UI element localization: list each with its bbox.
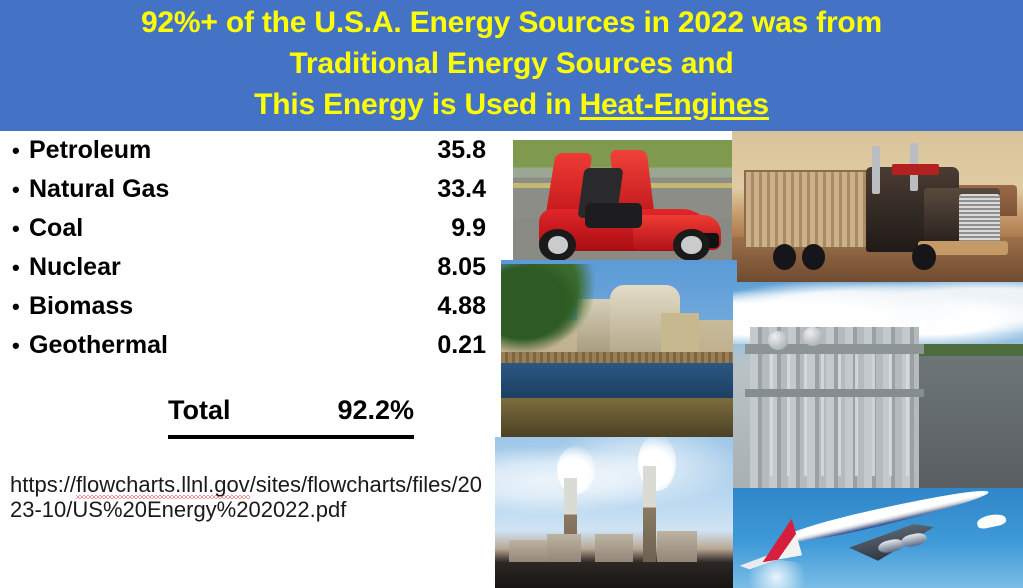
auxiliary-building bbox=[661, 313, 699, 352]
foreground-tree bbox=[501, 264, 595, 363]
source-value: 4.88 bbox=[437, 291, 486, 320]
truck-tire bbox=[912, 244, 935, 270]
source-value: 8.05 bbox=[437, 252, 486, 281]
title-line-3: This Energy is Used in Heat-Engines bbox=[254, 84, 769, 125]
source-value: 0.21 bbox=[437, 330, 486, 359]
car-wheel bbox=[539, 229, 576, 262]
left-content-column: • Petroleum 35.8 • Natural Gas 33.4 • Co… bbox=[0, 131, 500, 588]
list-item: • Natural Gas 33.4 bbox=[0, 170, 495, 209]
url-scheme: https:// bbox=[10, 472, 76, 497]
livestock-trailer bbox=[744, 170, 872, 249]
foreground-reeds bbox=[501, 398, 737, 437]
truck-tire bbox=[773, 244, 796, 270]
red-sports-car-photo bbox=[513, 140, 732, 265]
car-cabin bbox=[585, 203, 642, 228]
sky-haze bbox=[495, 437, 733, 531]
title-line-3-prefix: This Energy is Used in bbox=[254, 88, 580, 121]
title-heat-engines-underlined: Heat-Engines bbox=[580, 88, 769, 121]
oil-refinery-photo bbox=[733, 282, 1023, 488]
truck-scene bbox=[732, 131, 1023, 282]
aircraft-nose bbox=[976, 512, 1007, 530]
total-row: Total 92.2% bbox=[168, 395, 414, 439]
source-value: 9.9 bbox=[451, 213, 486, 242]
truck-brand-badge bbox=[892, 164, 939, 175]
tower-deck bbox=[745, 389, 925, 397]
list-item: • Geothermal 0.21 bbox=[0, 326, 495, 365]
source-url-text[interactable]: https://flowcharts.llnl.gov/sites/flowch… bbox=[10, 472, 492, 522]
title-banner: 92%+ of the U.S.A. Energy Sources in 202… bbox=[0, 0, 1023, 131]
coal-pile bbox=[495, 562, 733, 588]
energy-sources-list: • Petroleum 35.8 • Natural Gas 33.4 • Co… bbox=[0, 131, 495, 365]
bullet-icon: • bbox=[12, 218, 20, 240]
source-name: Biomass bbox=[29, 291, 133, 320]
car-wheel bbox=[673, 229, 710, 262]
list-item: • Nuclear 8.05 bbox=[0, 248, 495, 287]
storage-sphere bbox=[803, 327, 823, 346]
title-line-2: Traditional Energy Sources and bbox=[289, 43, 733, 84]
plant-building bbox=[547, 534, 580, 566]
smokestack bbox=[643, 466, 656, 566]
refinery-yard bbox=[919, 356, 1023, 488]
truck-tire bbox=[802, 244, 825, 270]
bullet-icon: • bbox=[12, 179, 20, 201]
list-item: • Coal 9.9 bbox=[0, 209, 495, 248]
plane-scene bbox=[733, 488, 1023, 588]
source-name: Nuclear bbox=[29, 252, 121, 281]
semi-truck-photo bbox=[732, 131, 1023, 282]
nuclear-power-plant-photo bbox=[501, 260, 737, 437]
source-value: 35.8 bbox=[437, 135, 486, 164]
total-value: 92.2% bbox=[337, 395, 414, 426]
nuclear-scene bbox=[501, 260, 737, 437]
slide-canvas: 92%+ of the U.S.A. Energy Sources in 202… bbox=[0, 0, 1023, 588]
exhaust-stack bbox=[872, 146, 881, 194]
pipe-rack bbox=[756, 352, 913, 476]
cooling-water bbox=[501, 363, 737, 398]
source-name: Coal bbox=[29, 213, 83, 242]
refinery-scene bbox=[733, 282, 1023, 488]
list-item: • Biomass 4.88 bbox=[0, 287, 495, 326]
aircraft-tail-livery bbox=[747, 518, 802, 564]
bullet-icon: • bbox=[12, 335, 20, 357]
list-item: • Petroleum 35.8 bbox=[0, 131, 495, 170]
total-label: Total bbox=[168, 395, 231, 426]
coal-plant-scene bbox=[495, 437, 733, 588]
coal-power-plant-photo bbox=[495, 437, 733, 588]
source-value: 33.4 bbox=[437, 174, 486, 203]
source-name: Natural Gas bbox=[29, 174, 169, 203]
source-name: Petroleum bbox=[29, 135, 151, 164]
storage-sphere bbox=[768, 331, 788, 350]
truck-grille bbox=[959, 194, 1000, 242]
title-line-1: 92%+ of the U.S.A. Energy Sources in 202… bbox=[141, 2, 882, 43]
bullet-icon: • bbox=[12, 140, 20, 162]
url-host-misspelled: flowcharts.llnl.gov bbox=[76, 472, 250, 499]
car-scene bbox=[513, 140, 732, 265]
bullet-icon: • bbox=[12, 257, 20, 279]
airliner-photo bbox=[733, 488, 1023, 588]
source-name: Geothermal bbox=[29, 330, 168, 359]
bullet-icon: • bbox=[12, 296, 20, 318]
plant-building bbox=[657, 531, 697, 566]
plant-building bbox=[595, 534, 633, 566]
